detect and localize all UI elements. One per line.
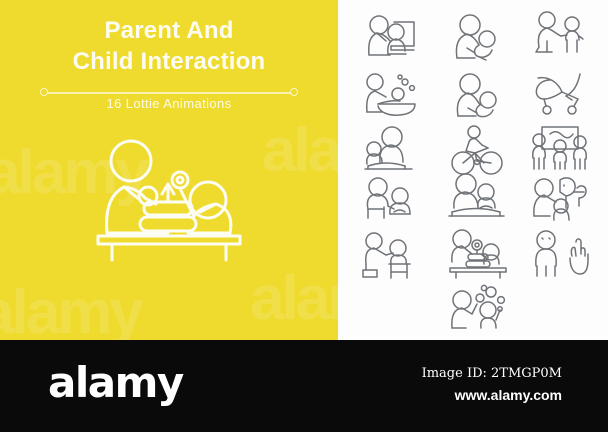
icon-child-hand-pointing <box>528 226 600 284</box>
alamy-footer-bar: alamy Image ID: 2TMGP0M www.alamy.com <box>0 340 608 432</box>
icon-parent-holding-baby <box>444 10 516 68</box>
alamy-logo: alamy <box>48 362 183 404</box>
alamy-website-url: www.alamy.com <box>422 384 562 406</box>
icon-parent-child-playing <box>360 174 432 232</box>
icon-parent-bathing-baby <box>360 68 432 126</box>
icon-parent-feeding-child-highchair <box>360 228 432 286</box>
parent-child-birthday-cake-table-icon <box>84 128 254 268</box>
promo-title-line-1: Parent And <box>104 17 233 44</box>
icon-parent-child-birthday-cake <box>444 226 516 284</box>
divider-endpoint-right-icon <box>290 88 298 96</box>
divider-endpoint-left-icon <box>40 88 48 96</box>
icon-parent-child-blowing-bubbles <box>444 280 516 338</box>
alamy-watermark-tile: alamy <box>250 268 338 330</box>
icon-parent-child-puppet-show <box>528 172 600 230</box>
content-band: alamy alamy alamy alamy Parent And Child… <box>0 0 608 340</box>
icon-parent-kneeling-helping-child-walk <box>528 7 600 65</box>
promo-title: Parent And Child Interaction <box>0 16 338 77</box>
alamy-watermark-tile: alamy <box>262 120 338 182</box>
icon-grid <box>346 4 596 336</box>
hero-illustration <box>84 128 254 268</box>
icon-grid-panel <box>338 0 608 340</box>
icon-baby-stroller <box>528 66 600 124</box>
icon-parent-child-homework-desk <box>444 172 516 230</box>
image-id-label: Image ID: 2TMGP0M <box>422 364 562 384</box>
promo-subtitle: 16 Lottie Animations <box>0 96 338 111</box>
alamy-watermark-tile: alamy <box>0 282 141 340</box>
icon-parent-child-reading-book <box>360 10 432 68</box>
promo-title-line-2: Child Interaction <box>0 47 338 78</box>
divider-bar <box>44 92 294 94</box>
icon-parent-cradling-baby <box>444 68 516 126</box>
screenshot-root: alamy alamy alamy alamy Parent And Child… <box>0 0 608 432</box>
promo-panel: alamy alamy alamy alamy Parent And Child… <box>0 0 338 340</box>
footer-meta: Image ID: 2TMGP0M www.alamy.com <box>422 364 562 406</box>
